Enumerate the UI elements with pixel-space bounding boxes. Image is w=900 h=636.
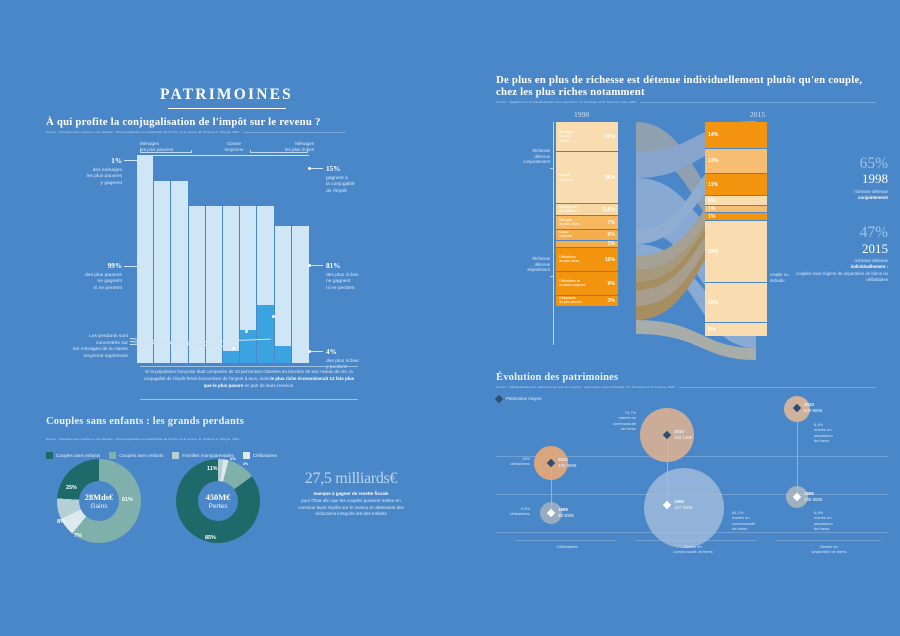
bar-column (240, 156, 257, 363)
section4-heading: Évolution des patrimoines (496, 372, 876, 383)
group-arrow-poorest (140, 152, 192, 153)
bubble-note-communaute-1998: 84,1%mariés encommunautéde biens (732, 510, 780, 532)
sankey-node-value: 9% (608, 281, 616, 287)
sankey-node-label: Célibataires dela classe moyenne (559, 280, 585, 288)
axis-tick-separation (776, 540, 881, 541)
sankey-node: 13% (705, 149, 767, 174)
sankey-node: Classemoyenne6% (556, 230, 618, 241)
annotation-losers: Les perdants sontconcentrés surles ménag… (46, 334, 128, 360)
bar-column (206, 156, 223, 363)
bubble-connector (551, 463, 552, 513)
sankey-node: 11% (705, 174, 767, 196)
section4-source: Source : Individualisation du patrimoine… (496, 385, 675, 390)
sankey-node-value: 1% (708, 206, 716, 212)
sankey-node-label: Classemoyenne (559, 231, 572, 239)
bubble-label-communaute-2010: 2010 318 100€ (674, 429, 692, 441)
donut-chart-pertes: 450M€ Pertes (176, 459, 260, 543)
sankey-node-value: 5% (708, 327, 716, 333)
leader-dot (308, 350, 311, 353)
sankey-node: Ménagesles plusriches22% (556, 122, 618, 152)
big-figure-block: 27,5 milliards€ manque à gagner de recet… (296, 470, 406, 518)
bubble-label-communaute-1998: 1998 167 300€ (674, 499, 692, 511)
donut-pertes-pct-2b: 2% (243, 462, 248, 466)
bubble-connector (667, 438, 668, 508)
leader-dot (308, 264, 311, 267)
big-figure-value: 27,5 milliards€ (296, 470, 406, 488)
donut-gains-label: Gains (90, 503, 107, 510)
sankey-node: Ménages lesplus pauvres5,5% (556, 204, 618, 216)
donut-pertes-pct-85: 85% (205, 535, 216, 541)
chart-caption: Si la population française était composé… (140, 369, 358, 390)
annotation-left-top: 1%des ménagesles plus pauvresy gagnent (46, 157, 122, 188)
sankey-node-label: Ménages lesplus pauvres (559, 206, 577, 214)
sankey-bracket-tick (550, 168, 553, 169)
leader-right-top (310, 168, 323, 169)
bubble-chart: 2010 230 300€ 1998 98 900€ 16%célibatair… (496, 398, 888, 558)
legend-item: Familles monoparentales (172, 452, 233, 459)
sankey-bracket-tick (550, 276, 553, 277)
section2-source-line: Source : Imposition des couples et des f… (46, 427, 386, 445)
legend-swatch (243, 452, 250, 459)
section2-source: Source : Imposition des couples et des f… (46, 437, 239, 441)
section-richesse-individuelle: De plus en plus de richesse est détenue … (496, 74, 876, 105)
bubble-note-separation-1998: 6,6%mariés enséparationde biens (814, 510, 858, 532)
sankey-node: 1% (705, 213, 767, 221)
donut-gains-value: 28Mds€ (85, 493, 113, 502)
sankey-node: Ménagesles plus riches7% (556, 216, 618, 230)
legend-swatch (46, 452, 53, 459)
bubble-connector (797, 412, 798, 496)
bar-column (292, 156, 309, 363)
donut-pertes-pct-11: 11% (207, 466, 218, 472)
legend-item: Couples avec enfants (109, 452, 163, 459)
legend-swatch (109, 452, 116, 459)
bubble-label-celibataires-2010: 2010 230 300€ (558, 457, 576, 469)
donut-gains-pct-8: 8% (57, 519, 65, 525)
stat-2015-pct: 47% (790, 225, 888, 241)
sankey-nodes-1998: Ménagesles plusriches22% Classemoyenne36… (556, 122, 618, 306)
stat-2015: 47% 2015 richesse détenue individuelleme… (790, 225, 888, 283)
bar-column (171, 156, 188, 363)
section3-source: Source : Inégalités sur la individualisa… (496, 100, 636, 105)
sankey-node-value: 36% (605, 175, 615, 181)
stat-1998: 65% 1998 richesse détenue conjointement (790, 156, 888, 201)
sankey-node-value: 7% (608, 220, 616, 226)
leader-left-top (124, 160, 140, 161)
bubble-label-celibataires-1998: 1998 98 900€ (558, 507, 574, 519)
axis-label-celibataires: Célibataires (534, 544, 600, 549)
legend-item: Couples sans enfants (46, 452, 100, 459)
donut-gains-pct-61: 61% (122, 497, 133, 503)
page-title-block: PATRIMOINES (160, 86, 293, 109)
sankey-node-value: 3% (608, 298, 616, 304)
sankey-bracket-top (553, 122, 554, 216)
sankey-nodes-2015: 14% 13% 11% 6% 1% 1% 29% 18% 5% (705, 122, 767, 336)
sankey-node-label: Ménagesles plusriches (559, 130, 574, 143)
sankey-node-value: 1% (608, 241, 616, 247)
leader-dot (308, 167, 311, 170)
sankey-node: Célibatairesles plus pauvres3% (556, 296, 618, 306)
section1-heading: À qui profite la conjugalisation de l'im… (46, 116, 346, 128)
section3-heading-line1: De plus en plus de richesse est détenue … (496, 74, 876, 86)
sankey-node: 1% (705, 206, 767, 213)
donut-center-pertes: 450M€ Pertes (198, 481, 238, 521)
sankey-year-2015: 2015 (750, 110, 765, 119)
divider (679, 387, 876, 388)
bubble-note-celibataires-1998: 9,4%célibataires (496, 506, 530, 517)
sankey-node-value: 18% (708, 300, 718, 306)
legend-label: Célibataires (253, 453, 277, 458)
annotation-right-mid: 81%des plus richesne gagnentni ne perden… (326, 262, 388, 293)
bar-column (154, 156, 171, 363)
axis-label-separation: Mariés enséparation de biens (784, 544, 874, 554)
sankey-bracket-label-separement: Richessedétenueséparément (506, 256, 550, 273)
group-arrow-richest (250, 152, 308, 153)
leader-right-bottom (310, 351, 323, 352)
leader-dot (245, 330, 248, 333)
big-figure-body: pour l'État afin que les couples puissen… (298, 498, 404, 517)
legend-label: Familles monoparentales (182, 453, 233, 458)
bubble-label-separation-1998: 1998 286 800€ (804, 491, 822, 503)
sankey-node: 5% (705, 323, 767, 336)
sankey-bracket-label-conjointement: Richessedétenueconjointement (506, 148, 550, 165)
section3-heading-line2: chez les plus riches notamment (496, 86, 876, 98)
title-underline (168, 108, 286, 109)
bar-column (189, 156, 206, 363)
divider (640, 102, 876, 103)
legend-item: Célibataires (243, 452, 277, 459)
tick-left (140, 150, 141, 153)
sankey-node-value: 5,5% (603, 207, 615, 213)
stat-1998-caption: richesse détenue conjointement (790, 189, 888, 202)
leader-dot (272, 315, 275, 318)
donut-pertes-pct-2a: 2% (230, 456, 236, 461)
stat-2015-caption: richesse détenue individuellement : coup… (790, 258, 888, 284)
sankey-node: Célibatairesles plus riches10% (556, 248, 618, 272)
page-title: PATRIMOINES (160, 86, 293, 104)
bar-column (137, 156, 154, 363)
legend-label: Couples sans enfants (56, 453, 100, 458)
group-label-poorest: Ménagesles plus pauvres (140, 141, 192, 152)
sankey-node-value: 11% (708, 182, 718, 188)
donut-gains-pct-25: 25% (66, 485, 77, 491)
sankey-node-value: 1% (708, 214, 716, 220)
leader-dot (232, 347, 235, 350)
sankey-node-value: 22% (605, 134, 615, 140)
sankey-node: 29% (705, 221, 767, 283)
sankey-node-label: Classemoyenne (559, 173, 574, 182)
bubble-note-communaute-2010: 75,7%mariés encommunautéde biens (592, 410, 636, 432)
sankey-node-label: Ménagesles plus riches (559, 219, 579, 227)
donut-center-gains: 28Mds€ Gains (79, 481, 119, 521)
tick-mid1 (191, 150, 192, 153)
stat-2015-year: 2015 (790, 242, 888, 256)
big-figure-text: manque à gagner de recette fiscale pour … (296, 491, 406, 518)
section1-source: Source : Imposition des couples et des f… (46, 130, 239, 135)
annotation-right-top: 15%gagnent àla conjugalitéde l'impôt (326, 165, 386, 196)
donut-pertes-label: Pertes (208, 503, 227, 510)
stat-1998-pct: 65% (790, 156, 888, 172)
leader-left-bottom (124, 266, 140, 267)
leader-right-mid (310, 265, 323, 266)
section3-source-line: Source : Inégalités sur la individualisa… (496, 100, 876, 105)
sankey-node: Classemoyenne36% (556, 152, 618, 204)
big-figure-bold: manque à gagner de recette fiscale (313, 491, 388, 496)
axis-tick-celibataires (516, 540, 616, 541)
divider (243, 132, 346, 133)
bar-column (257, 156, 274, 363)
sankey-node-value: 29% (708, 249, 718, 255)
infographic-page: PATRIMOINES À qui profite la conjugalisa… (0, 0, 900, 636)
bubble-note-celibataires-2010: 16%célibataires (496, 456, 530, 467)
caption-rule-top (140, 366, 358, 367)
section4-source-line: Source : Individualisation du patrimoine… (496, 385, 876, 390)
bubble-note-separation-2010: 8,4%mariés enséparationde biens (814, 422, 858, 444)
section2-heading: Couples sans enfants : les grands perdan… (46, 416, 386, 427)
tick-right (307, 150, 308, 153)
sankey-node-value: 10% (605, 257, 615, 263)
sankey-year-1998: 1998 (574, 110, 589, 119)
donut-legend: Couples sans enfants Couples avec enfant… (46, 452, 386, 459)
bubble-label-separation-2010: 2010 630 900€ (804, 402, 822, 414)
stat-1998-year: 1998 (790, 172, 888, 186)
sankey-node: 14% (705, 122, 767, 149)
sankey-node: 18% (705, 283, 767, 323)
tick-mid2 (250, 150, 251, 153)
donut-pertes-value: 450M€ (206, 493, 231, 502)
sankey-node: 6% (705, 196, 767, 206)
donut-gains-pct-7: 7% (74, 533, 82, 539)
sankey-node-value: 14% (708, 132, 718, 138)
section-conjugalisation: À qui profite la conjugalisation de l'im… (46, 116, 346, 135)
annotation-left-bottom: 99%des plus pauvresne gagnentni ne perde… (46, 262, 122, 293)
sankey-stats: 65% 1998 richesse détenue conjointement … (790, 156, 888, 283)
bar-column (223, 156, 240, 363)
sankey-node: 1% (556, 241, 618, 248)
legend-label: Couples avec enfants (119, 453, 163, 458)
sankey-node-label: Célibatairesles plus riches (559, 256, 579, 264)
sankey-node-value: 6% (608, 232, 616, 238)
decile-bar-chart (137, 156, 309, 363)
sankey-node-value: 6% (708, 198, 716, 204)
caption-rule-bottom (140, 399, 358, 400)
section1-source-line: Source : Imposition des couples et des f… (46, 130, 346, 135)
sankey-node-label: Célibatairesles plus pauvres (559, 297, 582, 305)
sankey-node-value: 13% (708, 158, 718, 164)
legend-swatch (172, 452, 179, 459)
sankey-bracket-bottom (553, 216, 554, 345)
bar-column (275, 156, 292, 363)
axis-label-communaute: Mariés encommunauté de biens (648, 544, 738, 554)
section-couples-sans-enfants: Couples sans enfants : les grands perdan… (46, 416, 386, 459)
caption-line3: en part de leurs revenus. (245, 383, 295, 388)
sankey-node: Célibataires dela classe moyenne9% (556, 272, 618, 296)
